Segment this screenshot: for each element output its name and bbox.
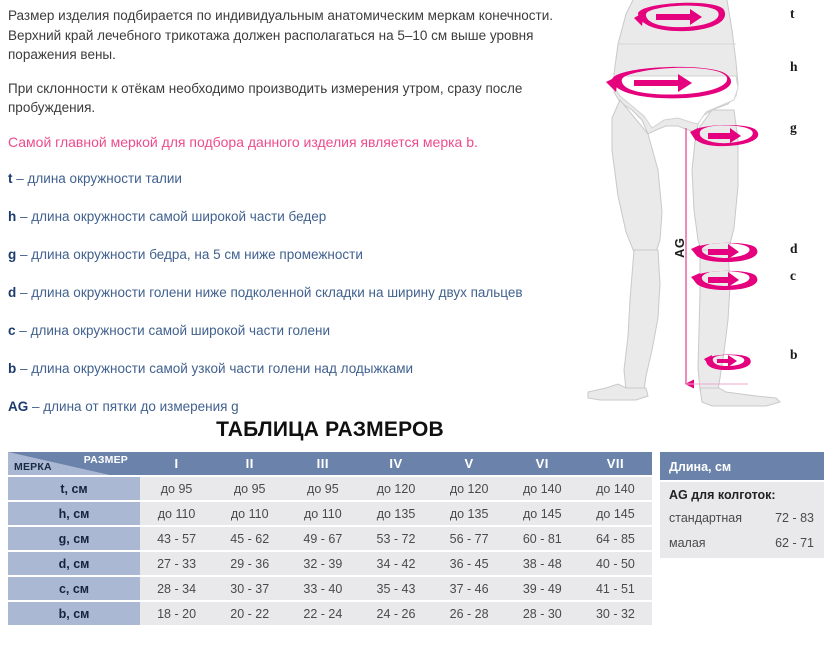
- cell-d-5: 36 - 45: [433, 552, 506, 577]
- measure-dash: –: [20, 209, 28, 224]
- length-row-standard: стандартная 72 - 83: [660, 508, 824, 533]
- text-column: Размер изделия подбирается по индивидуал…: [8, 6, 564, 435]
- cell-t-2: до 95: [213, 477, 286, 502]
- intro-paragraph-2: При склонности к отёкам необходимо произ…: [8, 79, 564, 118]
- table-row: b, см 18 - 20 20 - 22 22 - 24 24 - 26 26…: [8, 602, 652, 627]
- row-label-t: t, см: [8, 477, 140, 502]
- column-header-3: III: [286, 452, 359, 477]
- measure-key-ag: AG: [8, 399, 28, 414]
- measure-key-b: b: [8, 361, 16, 376]
- length-panel-header: Длина, см: [660, 452, 824, 482]
- table-corner-cell: МЕРКА РАЗМЕР: [8, 452, 140, 477]
- row-label-h: h, см: [8, 502, 140, 527]
- column-header-2: II: [213, 452, 286, 477]
- length-row-standard-name: стандартная: [669, 511, 742, 525]
- cell-c-3: 33 - 40: [286, 577, 359, 602]
- measurement-legend-g: g – длина окружности бедра, на 5 см ниже…: [8, 245, 564, 264]
- diagram-label-d: d: [790, 241, 798, 257]
- diagram-label-t: t: [790, 6, 795, 22]
- measure-dash: –: [20, 361, 28, 376]
- intro-paragraph-1: Размер изделия подбирается по индивидуал…: [8, 6, 564, 65]
- cell-t-7: до 140: [579, 477, 652, 502]
- measure-dash: –: [20, 285, 28, 300]
- cell-b-5: 26 - 28: [433, 602, 506, 627]
- cell-t-1: до 95: [140, 477, 213, 502]
- cell-c-1: 28 - 34: [140, 577, 213, 602]
- cell-b-7: 30 - 32: [579, 602, 652, 627]
- table-row: c, см 28 - 34 30 - 37 33 - 40 35 - 43 37…: [8, 577, 652, 602]
- table-row: t, см до 95 до 95 до 95 до 120 до 120 до…: [8, 477, 652, 502]
- cell-c-4: 35 - 43: [359, 577, 432, 602]
- cell-c-2: 30 - 37: [213, 577, 286, 602]
- length-panel: Длина, см AG для колготок: стандартная 7…: [660, 452, 824, 558]
- measure-text-t: длина окружности талии: [28, 171, 182, 186]
- cell-h-1: до 110: [140, 502, 213, 527]
- cell-c-7: 41 - 51: [579, 577, 652, 602]
- cell-g-6: 60 - 81: [506, 527, 579, 552]
- measure-key-d: d: [8, 285, 16, 300]
- cell-d-6: 38 - 48: [506, 552, 579, 577]
- table-title: ТАБЛИЦА РАЗМЕРОВ: [0, 418, 660, 442]
- measurement-legend-t: t – длина окружности талии: [8, 169, 564, 188]
- diagram-label-h: h: [790, 59, 798, 75]
- measurement-legend-d: d – длина окружности голени ниже подколе…: [8, 283, 564, 302]
- cell-h-5: до 135: [433, 502, 506, 527]
- size-table-head: МЕРКА РАЗМЕР I II III IV V VI VII: [8, 452, 652, 477]
- cell-t-4: до 120: [359, 477, 432, 502]
- cell-h-7: до 145: [579, 502, 652, 527]
- measure-key-t: t: [8, 171, 13, 186]
- length-row-standard-value: 72 - 83: [775, 511, 814, 525]
- table-row: h, см до 110 до 110 до 110 до 135 до 135…: [8, 502, 652, 527]
- cell-h-4: до 135: [359, 502, 432, 527]
- row-label-c: c, см: [8, 577, 140, 602]
- measure-dash: –: [16, 171, 24, 186]
- measure-text-h: длина окружности самой широкой части бед…: [31, 209, 326, 224]
- cell-d-3: 32 - 39: [286, 552, 359, 577]
- cell-b-4: 24 - 26: [359, 602, 432, 627]
- row-label-g: g, см: [8, 527, 140, 552]
- cell-g-7: 64 - 85: [579, 527, 652, 552]
- cell-t-3: до 95: [286, 477, 359, 502]
- length-panel-title: AG для колготок:: [660, 482, 824, 508]
- cell-t-5: до 120: [433, 477, 506, 502]
- measurement-legend-b: b – длина окружности самой узкой части г…: [8, 359, 564, 378]
- cell-d-1: 27 - 33: [140, 552, 213, 577]
- measure-key-c: c: [8, 323, 16, 338]
- length-row-small: малая 62 - 71: [660, 533, 824, 558]
- measure-text-d: длина окружности голени ниже подколенной…: [31, 285, 522, 300]
- measure-text-ag: длина от пятки до измерения g: [43, 399, 238, 414]
- cell-g-4: 53 - 72: [359, 527, 432, 552]
- corner-col-header-label: РАЗМЕР: [84, 454, 128, 466]
- column-header-6: VI: [506, 452, 579, 477]
- cell-g-2: 45 - 62: [213, 527, 286, 552]
- measure-key-g: g: [8, 247, 16, 262]
- cell-d-7: 40 - 50: [579, 552, 652, 577]
- cell-b-1: 18 - 20: [140, 602, 213, 627]
- measurement-legend-h: h – длина окружности самой широкой части…: [8, 207, 564, 226]
- diagram-label-g: g: [790, 120, 797, 136]
- measure-text-c: длина окружности самой широкой части гол…: [31, 323, 330, 338]
- body-silhouette: [588, 0, 780, 406]
- measure-text-g: длина окружности бедра, на 5 см ниже про…: [31, 247, 363, 262]
- table-row: d, см 27 - 33 29 - 36 32 - 39 34 - 42 36…: [8, 552, 652, 577]
- cell-b-6: 28 - 30: [506, 602, 579, 627]
- cell-h-3: до 110: [286, 502, 359, 527]
- cell-b-3: 22 - 24: [286, 602, 359, 627]
- diagram-label-ag: AG: [672, 238, 687, 259]
- cell-c-6: 39 - 49: [506, 577, 579, 602]
- row-label-b: b, см: [8, 602, 140, 627]
- length-row-small-value: 62 - 71: [775, 536, 814, 550]
- measure-text-b: длина окружности самой узкой части голен…: [31, 361, 413, 376]
- cell-h-6: до 145: [506, 502, 579, 527]
- measurement-legend-c: c – длина окружности самой широкой части…: [8, 321, 564, 340]
- length-row-small-name: малая: [669, 536, 706, 550]
- cell-g-1: 43 - 57: [140, 527, 213, 552]
- measurement-legend-ag: AG – длина от пятки до измерения g: [8, 397, 564, 416]
- size-table-body: t, см до 95 до 95 до 95 до 120 до 120 до…: [8, 477, 652, 627]
- measure-dash: –: [32, 399, 40, 414]
- length-panel-body: AG для колготок: стандартная 72 - 83 мал…: [660, 482, 824, 558]
- cell-h-2: до 110: [213, 502, 286, 527]
- column-header-1: I: [140, 452, 213, 477]
- measure-dash: –: [19, 323, 27, 338]
- diagram-label-c: c: [790, 268, 796, 284]
- cell-d-2: 29 - 36: [213, 552, 286, 577]
- cell-d-4: 34 - 42: [359, 552, 432, 577]
- column-header-7: VII: [579, 452, 652, 477]
- measure-dash: –: [20, 247, 28, 262]
- row-label-d: d, см: [8, 552, 140, 577]
- size-table: МЕРКА РАЗМЕР I II III IV V VI VII t, см …: [8, 452, 652, 627]
- column-header-4: IV: [359, 452, 432, 477]
- anatomy-measurement-diagram: t h g d c b AG: [560, 0, 832, 412]
- cell-g-5: 56 - 77: [433, 527, 506, 552]
- corner-row-header-label: МЕРКА: [14, 461, 52, 473]
- intro-and-diagram-section: Размер изделия подбирается по индивидуал…: [0, 0, 832, 412]
- size-table-header-row: МЕРКА РАЗМЕР I II III IV V VI VII: [8, 452, 652, 477]
- column-header-5: V: [433, 452, 506, 477]
- cell-c-5: 37 - 46: [433, 577, 506, 602]
- diagram-label-b: b: [790, 347, 798, 363]
- measure-key-h: h: [8, 209, 16, 224]
- cell-t-6: до 140: [506, 477, 579, 502]
- cell-g-3: 49 - 67: [286, 527, 359, 552]
- cell-b-2: 20 - 22: [213, 602, 286, 627]
- table-row: g, см 43 - 57 45 - 62 49 - 67 53 - 72 56…: [8, 527, 652, 552]
- highlight-note: Самой главной меркой для подбора данного…: [8, 132, 564, 152]
